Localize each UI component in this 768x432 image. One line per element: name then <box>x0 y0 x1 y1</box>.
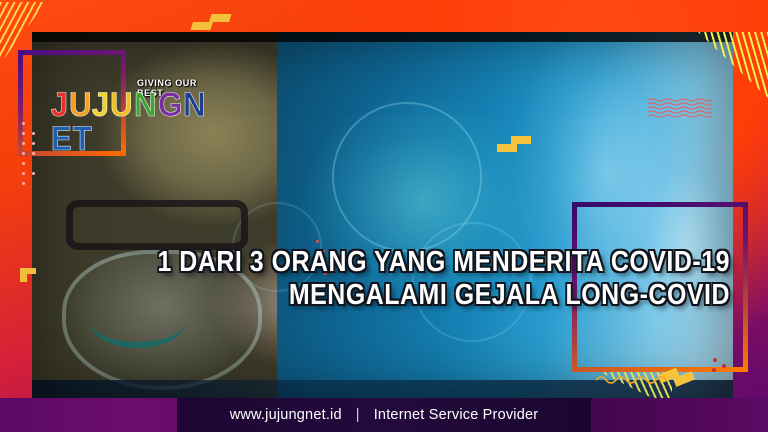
wordmark-letter: J <box>51 88 67 122</box>
footer-website[interactable]: www.jujungnet.id <box>230 407 342 423</box>
wordmark-letter: U <box>110 88 132 122</box>
orange-wavy-line-icon <box>596 372 670 386</box>
zigzag-left-icon <box>20 268 36 282</box>
promo-banner: GIVING OUR BEST JUJUNGNET 1 DARI 3 ORANG… <box>0 0 768 432</box>
wordmark-letter: U <box>69 88 91 122</box>
footer-content: www.jujungnet.id | Internet Service Prov… <box>0 398 768 432</box>
wordmark-letter: N <box>183 88 205 122</box>
wordmark-letter: J <box>92 88 108 122</box>
footer-service-label: Internet Service Provider <box>374 407 539 423</box>
headline-line-1: 1 DARI 3 ORANG YANG MENDERITA COVID-19 <box>157 246 730 278</box>
footer-separator: | <box>356 407 360 423</box>
brand-wordmark: JUJUNGNET <box>50 88 226 156</box>
headline: 1 DARI 3 ORANG YANG MENDERITA COVID-19 M… <box>137 246 730 312</box>
red-wavy-lines-icon <box>648 98 716 120</box>
wordmark-letter: G <box>158 88 181 122</box>
wordmark-letter: E <box>51 122 71 156</box>
zigzag-middle-icon <box>497 136 531 152</box>
wordmark-letter: N <box>134 88 156 122</box>
brand-logo[interactable]: GIVING OUR BEST JUJUNGNET <box>50 78 226 126</box>
wordmark-letter: T <box>72 122 90 156</box>
zigzag-top-icon <box>190 14 231 30</box>
headline-line-2: MENGALAMI GEJALA LONG-COVID <box>137 279 730 312</box>
